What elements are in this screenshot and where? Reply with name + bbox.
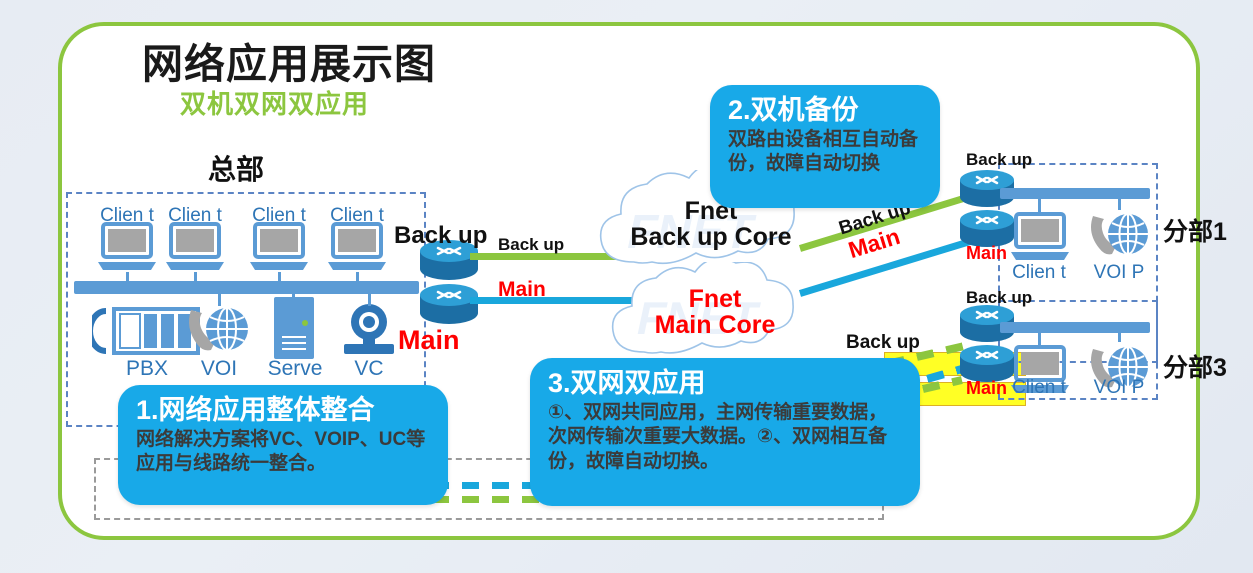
branch3-voip-link	[1118, 332, 1121, 342]
callout-1-body: 网络解决方案将VC、VOIP、UC等应用与线路统一整合。	[136, 428, 430, 477]
hq-client-1-link	[126, 272, 129, 284]
hq-client-1-label: Clien t	[98, 206, 156, 225]
hq-router-main[interactable]	[418, 282, 480, 326]
branch3-router-main-label: Main	[966, 378, 1007, 399]
link-hq-main-label: Main	[498, 278, 546, 302]
callout-2[interactable]: 2.双机备份 双路由设备相互自动备份，故障自动切换	[710, 85, 940, 208]
branch3-client-link	[1038, 332, 1041, 346]
branch3-voip-label: VOI P	[1090, 378, 1148, 397]
branch1-title: 分部1	[1163, 212, 1227, 248]
diagram-canvas: 网络应用展示图 双机双网双应用 总部 Clien t Clien t Clien…	[0, 0, 1253, 573]
hq-client-4-link	[356, 272, 359, 284]
callout-2-body: 双路由设备相互自动备份，故障自动切换	[728, 128, 922, 177]
hq-device-vc-label: VC	[340, 358, 398, 379]
branch1-client-label: Clien t	[1010, 263, 1068, 282]
cloud-backup-core-line2: Back up Core	[630, 223, 791, 251]
hq-device-pbx-label: PBX	[112, 358, 182, 379]
hq-client-2-label: Clien t	[166, 206, 224, 225]
cloud-main-core-line2: Main Core	[655, 311, 776, 339]
branch3-client-label: Clien t	[1010, 378, 1068, 397]
hq-client-3[interactable]	[248, 222, 310, 274]
hq-client-3-label: Clien t	[250, 206, 308, 225]
cloud-main-core: FNET Fnet Main Core	[600, 262, 830, 370]
branch1-voip-label: VOI P	[1090, 263, 1148, 282]
hq-voip-link	[218, 292, 221, 306]
laptop-icon	[326, 222, 388, 274]
voip-globe-icon	[183, 300, 255, 360]
branch3-bus-bar	[1000, 322, 1150, 333]
hq-vc-link	[368, 292, 371, 306]
branch1-bus-bar	[1000, 188, 1150, 199]
laptop-icon	[164, 222, 226, 274]
hq-client-1[interactable]	[96, 222, 158, 274]
hq-client-4[interactable]	[326, 222, 388, 274]
branch1-voip[interactable]	[1085, 206, 1155, 264]
hq-client-3-link	[278, 272, 281, 284]
router-icon	[418, 282, 480, 326]
laptop-icon	[1009, 212, 1071, 264]
hq-router-backup-label: Back up	[394, 222, 487, 250]
hq-server-link	[292, 290, 295, 300]
page-subtitle: 双机双网双应用	[180, 84, 369, 121]
server-icon	[272, 297, 316, 361]
hq-router-main-label: Main	[398, 325, 460, 356]
laptop-icon	[248, 222, 310, 274]
cloud-main-core-label: Fnet Main Core	[600, 286, 830, 339]
video-camera-icon	[338, 302, 400, 358]
laptop-icon	[96, 222, 158, 274]
hq-device-server-label: Serve	[262, 358, 328, 379]
cloud-main-core-line1: Fnet	[689, 285, 742, 313]
hq-client-2-link	[194, 272, 197, 284]
hq-device-voip-label: VOI	[188, 358, 250, 379]
page-title: 网络应用展示图	[142, 30, 436, 90]
hq-client-4-label: Clien t	[328, 206, 386, 225]
branch1-voip-link	[1118, 198, 1121, 210]
voip-globe-icon	[1085, 206, 1155, 264]
headquarters-title: 总部	[208, 148, 264, 188]
hq-device-server[interactable]	[272, 297, 316, 361]
hq-device-vc[interactable]	[338, 302, 400, 358]
callout-3-title: 3.双网双应用	[548, 368, 902, 399]
branch3-title: 分部3	[1163, 348, 1227, 384]
hq-client-2[interactable]	[164, 222, 226, 274]
branch1-router-backup-label: Back up	[966, 150, 1032, 170]
branch3-router-backup-label: Back up	[966, 288, 1032, 308]
link-hq-backup-label: Back up	[498, 235, 564, 255]
callout-1[interactable]: 1.网络应用整体整合 网络解决方案将VC、VOIP、UC等应用与线路统一整合。	[118, 385, 448, 505]
hq-device-voip[interactable]	[183, 300, 255, 360]
callout-2-title: 2.双机备份	[728, 95, 922, 126]
branch1-router-main-label: Main	[966, 243, 1007, 264]
callout-3[interactable]: 3.双网双应用 ①、双网共同应用，主网传输重要数据，次网传输次重要大数据。②、双…	[530, 358, 920, 506]
link-branch3-backup-label: Back up	[846, 332, 920, 354]
callout-1-title: 1.网络应用整体整合	[136, 395, 430, 426]
callout-3-body: ①、双网共同应用，主网传输重要数据，次网传输次重要大数据。②、双网相互备份，故障…	[548, 401, 902, 474]
branch1-client[interactable]	[1009, 212, 1071, 264]
branch1-client-link	[1038, 198, 1041, 212]
